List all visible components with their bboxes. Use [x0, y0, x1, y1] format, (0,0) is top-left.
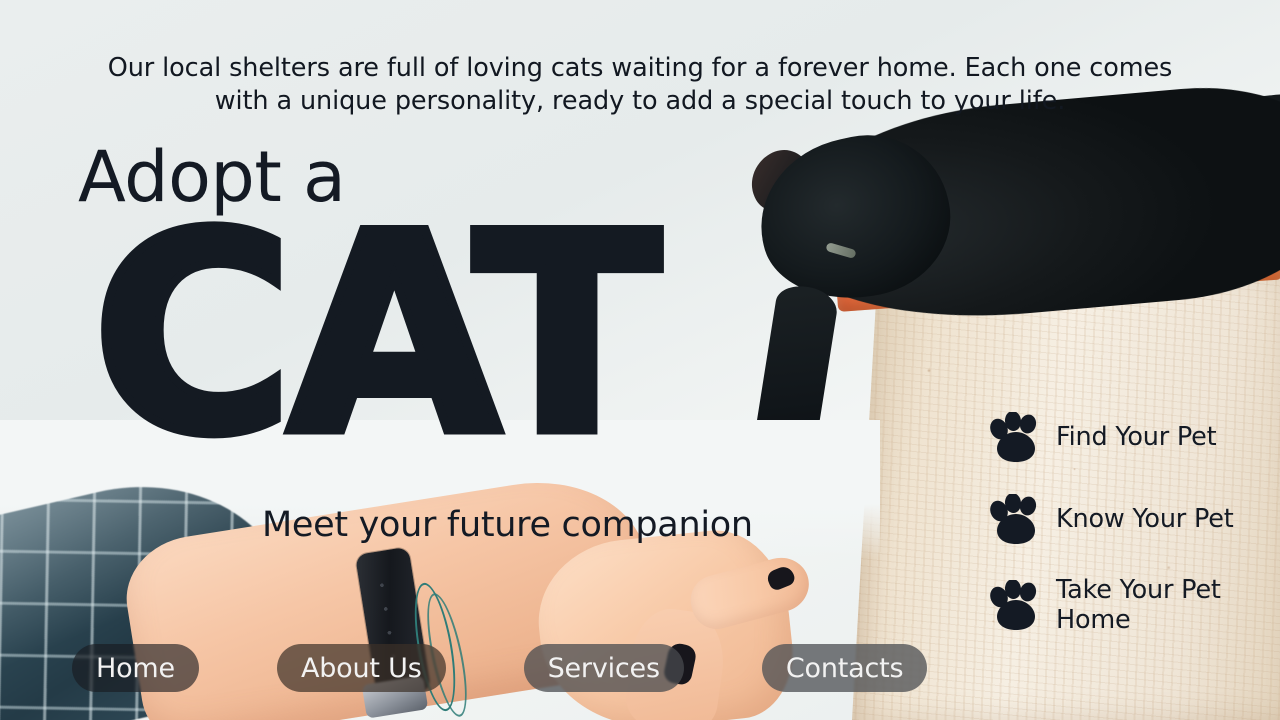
paw-print-icon: [988, 412, 1044, 464]
tagline: Meet your future companion: [262, 508, 753, 543]
intro-paragraph: Our local shelters are full of loving ca…: [85, 52, 1195, 118]
feature-label: Find Your Pet: [1056, 423, 1216, 453]
paw-print-icon: [988, 494, 1044, 546]
main-navigation: Home About Us Services Contacts: [72, 644, 927, 692]
nav-item-about-us[interactable]: About Us: [277, 644, 446, 692]
nav-item-services[interactable]: Services: [524, 644, 684, 692]
nav-item-home[interactable]: Home: [72, 644, 199, 692]
feature-item-find-your-pet[interactable]: Find Your Pet: [988, 412, 1256, 464]
nav-item-contacts[interactable]: Contacts: [762, 644, 928, 692]
page-title: CAT: [92, 198, 655, 473]
feature-label: Know Your Pet: [1056, 505, 1234, 535]
feature-item-know-your-pet[interactable]: Know Your Pet: [988, 494, 1256, 546]
feature-label: Take Your Pet Home: [1056, 576, 1256, 635]
paw-print-icon: [988, 580, 1044, 632]
feature-list: Find Your Pet Know Your Pet: [988, 412, 1256, 635]
feature-item-take-your-pet-home[interactable]: Take Your Pet Home: [988, 576, 1256, 635]
hero-slide: Our local shelters are full of loving ca…: [0, 0, 1280, 720]
